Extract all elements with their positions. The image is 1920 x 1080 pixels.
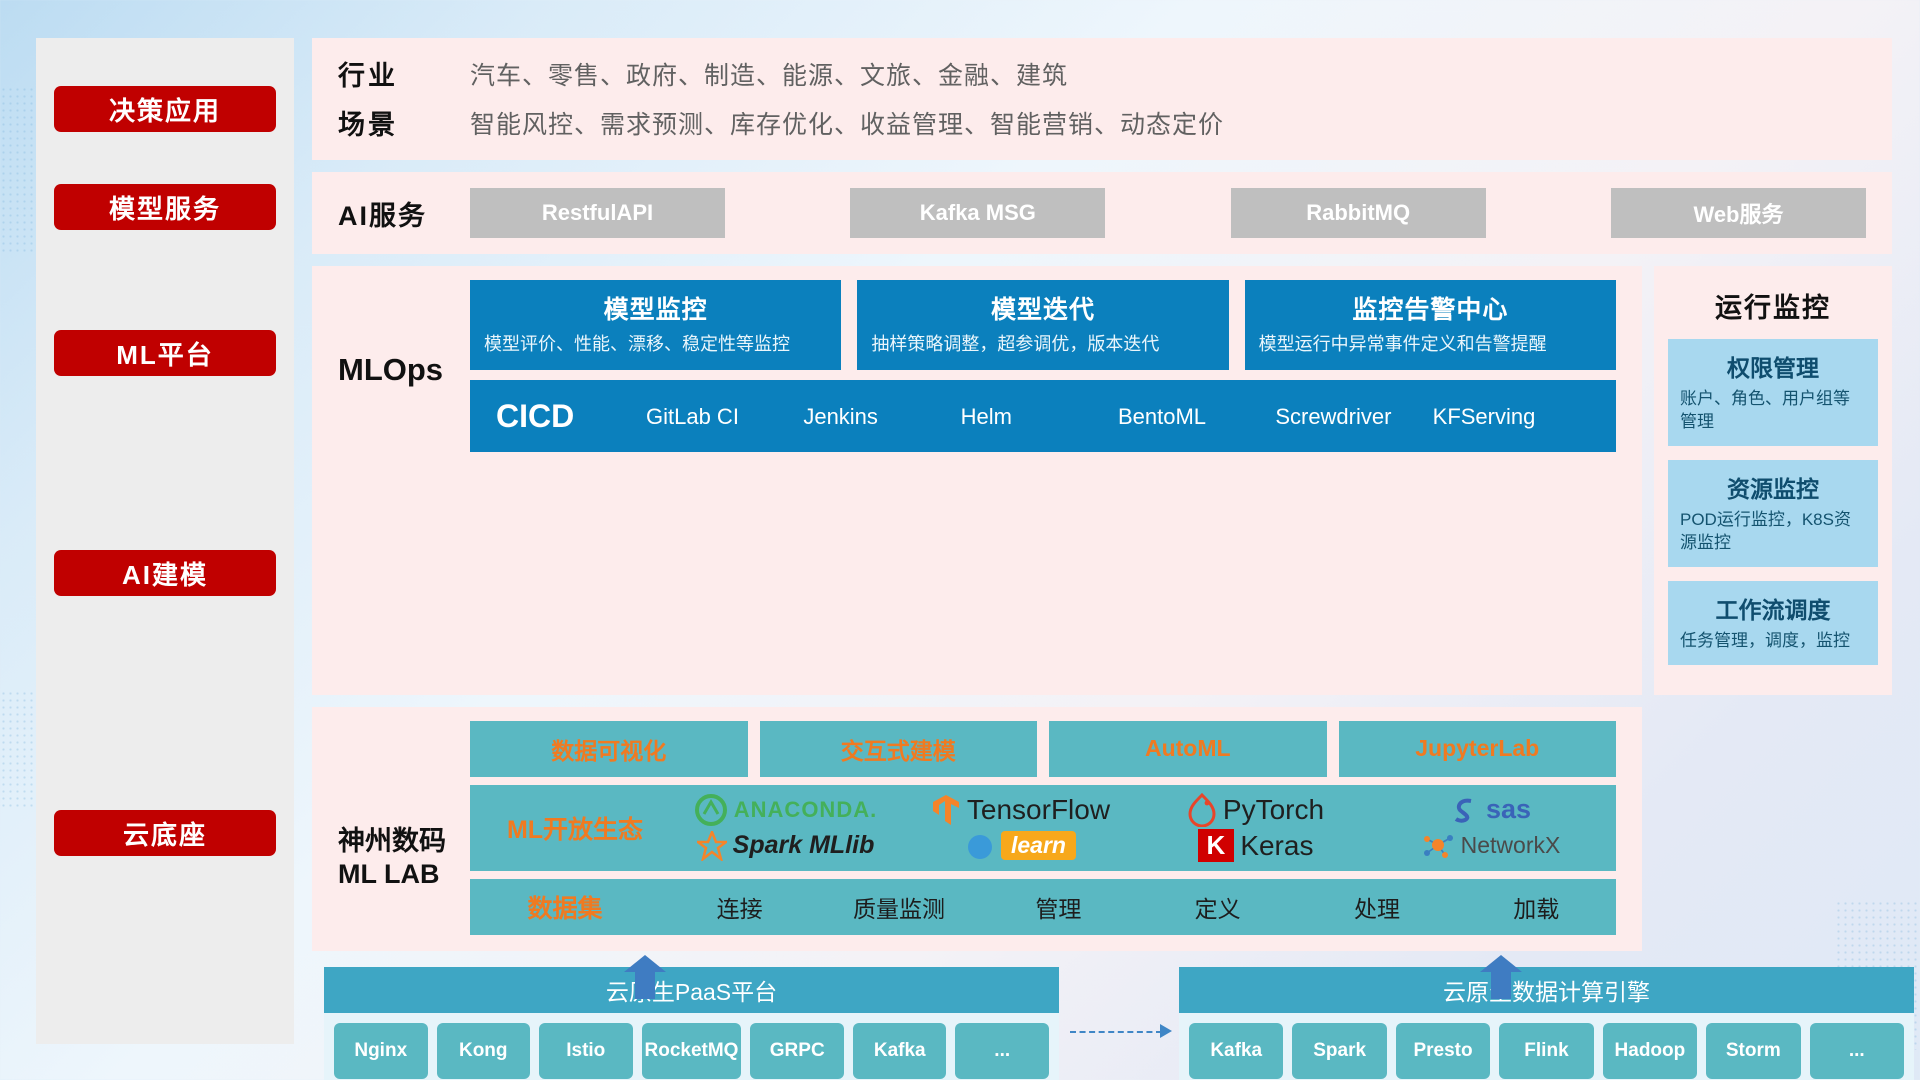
- scikit-learn-logo[interactable]: learn: [965, 831, 1076, 861]
- ml-lab-band: 神州数码 ML LAB 数据可视化 交互式建模 AutoML JupyterLa…: [312, 707, 1642, 951]
- card-desc: 模型评价、性能、漂移、稳定性等监控: [484, 332, 827, 356]
- card-desc: 抽样策略调整，超参调优，版本迭代: [871, 332, 1214, 356]
- ai-chip-web-service[interactable]: Web服务: [1611, 188, 1866, 238]
- arrow-line-right: [1070, 1031, 1162, 1033]
- anaconda-mark-icon: [694, 793, 728, 827]
- ml-lab-tool-list: 数据可视化 交互式建模 AutoML JupyterLab: [470, 721, 1616, 777]
- cloud-compute-column: 云原生数据计算引擎 Kafka Spark Presto Flink Hadoo…: [1179, 967, 1914, 1080]
- arrow-up-right: [1480, 955, 1522, 999]
- monitor-card-resource[interactable]: 资源监控 POD运行监控，K8S资源监控: [1668, 460, 1878, 567]
- sas-wordmark: sas: [1486, 794, 1531, 825]
- band-divider: [312, 160, 1892, 172]
- lab-tool-jupyterlab[interactable]: JupyterLab: [1339, 721, 1617, 777]
- dataset-item-list: 连接 质量监测 管理 定义 处理 加载: [660, 890, 1616, 924]
- paas-chip-rocketmq[interactable]: RocketMQ: [642, 1023, 742, 1079]
- cloud-compute-title: 云原生数据计算引擎: [1179, 967, 1914, 1013]
- networkx-graph-icon: [1421, 831, 1455, 861]
- dataset-item-definition[interactable]: 定义: [1138, 890, 1297, 924]
- ai-chip-restfulapi[interactable]: RestfulAPI: [470, 188, 725, 238]
- rail-item-cloud-base[interactable]: 云底座: [54, 810, 276, 856]
- keras-mark-icon: K: [1198, 829, 1235, 862]
- runtime-monitor-panel: 运行监控 权限管理 账户、角色、用户组等管理 资源监控 POD运行监控，K8S资…: [1654, 266, 1892, 695]
- spark-star-icon: [697, 831, 727, 861]
- sas-logo[interactable]: sas: [1450, 794, 1531, 825]
- keras-wordmark: Keras: [1240, 830, 1313, 862]
- networkx-wordmark: NetworkX: [1461, 832, 1561, 859]
- ml-open-ecosystem: ML开放生态 ANACONDA.: [470, 785, 1616, 871]
- ai-service-label: AI服务: [338, 194, 470, 233]
- mlops-card-model-iteration[interactable]: 模型迭代 抽样策略调整，超参调优，版本迭代: [857, 280, 1228, 370]
- anaconda-logo[interactable]: ANACONDA.: [694, 793, 877, 827]
- scikit-learn-wordmark: learn: [1001, 831, 1076, 860]
- card-title: 模型迭代: [871, 290, 1214, 326]
- compute-chip-more[interactable]: ...: [1810, 1023, 1904, 1079]
- compute-chip-presto[interactable]: Presto: [1396, 1023, 1490, 1079]
- industry-row: 行业 汽车、零售、政府、制造、能源、文旅、金融、建筑: [338, 54, 1866, 93]
- dataset-item-processing[interactable]: 处理: [1297, 890, 1456, 924]
- layer-rail: 决策应用 模型服务 ML平台 AI建模 云底座: [36, 38, 294, 1044]
- ml-lab-label-line2: ML LAB: [338, 858, 470, 892]
- architecture-diagram: 决策应用 模型服务 ML平台 AI建模 云底座 行业 汽车、零售、政府、制造、能…: [0, 0, 1920, 1080]
- cloud-paas-column: 云原生PaaS平台 Nginx Kong Istio RocketMQ GRPC…: [324, 967, 1059, 1080]
- runtime-monitor-title: 运行监控: [1668, 286, 1878, 325]
- rail-item-decision-apps[interactable]: 决策应用: [54, 86, 276, 132]
- cicd-tool-kfserving[interactable]: KFServing: [1433, 403, 1590, 431]
- compute-chip-kafka[interactable]: Kafka: [1189, 1023, 1283, 1079]
- mlops-card-model-monitoring[interactable]: 模型监控 模型评价、性能、漂移、稳定性等监控: [470, 280, 841, 370]
- dataset-row: 数据集 连接 质量监测 管理 定义 处理 加载: [470, 879, 1616, 935]
- compute-chip-flink[interactable]: Flink: [1499, 1023, 1593, 1079]
- card-desc: 模型运行中异常事件定义和告警提醒: [1259, 332, 1602, 356]
- compute-chip-spark[interactable]: Spark: [1292, 1023, 1386, 1079]
- lab-tool-data-visualization[interactable]: 数据可视化: [470, 721, 748, 777]
- cicd-bar: CICD GitLab CI Jenkins Helm BentoML Scre…: [470, 380, 1616, 452]
- rail-item-ml-platform[interactable]: ML平台: [54, 330, 276, 376]
- card-title: 资源监控: [1680, 470, 1866, 504]
- cloud-base-row: 云原生PaaS平台 Nginx Kong Istio RocketMQ GRPC…: [312, 967, 1892, 1080]
- mlops-content: 模型监控 模型评价、性能、漂移、稳定性等监控 模型迭代 抽样策略调整，超参调优，…: [470, 280, 1616, 452]
- decision-apps-band: 行业 汽车、零售、政府、制造、能源、文旅、金融、建筑 场景 智能风控、需求预测、…: [312, 38, 1892, 160]
- tensorflow-mark-icon: [931, 793, 961, 827]
- ml-lab-content: 数据可视化 交互式建模 AutoML JupyterLab ML开放生态: [470, 721, 1616, 935]
- arrow-head-right: [1160, 1024, 1172, 1038]
- cloud-paas-chip-list: Nginx Kong Istio RocketMQ GRPC Kafka ...: [324, 1013, 1059, 1080]
- paas-chip-more[interactable]: ...: [955, 1023, 1049, 1079]
- scenario-row: 场景 智能风控、需求预测、库存优化、收益管理、智能营销、动态定价: [338, 103, 1866, 142]
- rail-label: ML平台: [116, 335, 214, 372]
- monitor-card-permission[interactable]: 权限管理 账户、角色、用户组等管理: [1668, 339, 1878, 446]
- cicd-tool-list: GitLab CI Jenkins Helm BentoML Screwdriv…: [646, 403, 1590, 431]
- ai-chip-kafka-msg[interactable]: Kafka MSG: [850, 188, 1105, 238]
- mlops-card-alert-center[interactable]: 监控告警中心 模型运行中异常事件定义和告警提醒: [1245, 280, 1616, 370]
- lab-tool-interactive-modeling[interactable]: 交互式建模: [760, 721, 1038, 777]
- keras-logo[interactable]: K Keras: [1198, 829, 1314, 862]
- rail-label: 云底座: [123, 815, 207, 852]
- card-desc: POD运行监控，K8S资源监控: [1680, 509, 1866, 555]
- monitor-spacer: [1654, 707, 1892, 951]
- spark-wordmark: Spark MLlib: [733, 831, 875, 860]
- networkx-logo[interactable]: NetworkX: [1421, 831, 1561, 861]
- dataset-item-management[interactable]: 管理: [979, 890, 1138, 924]
- paas-chip-istio[interactable]: Istio: [539, 1023, 633, 1079]
- ml-lab-row: 神州数码 ML LAB 数据可视化 交互式建模 AutoML JupyterLa…: [312, 707, 1892, 951]
- ai-chip-rabbitmq[interactable]: RabbitMQ: [1231, 188, 1486, 238]
- band-divider: [312, 254, 1892, 266]
- cicd-tool-gitlab-ci[interactable]: GitLab CI: [646, 403, 803, 431]
- card-desc: 账户、角色、用户组等管理: [1680, 388, 1866, 434]
- tensorflow-logo[interactable]: TensorFlow: [931, 793, 1110, 827]
- cicd-tool-jenkins[interactable]: Jenkins: [803, 403, 960, 431]
- ecosystem-logo-grid: ANACONDA. TensorFlow: [670, 793, 1606, 863]
- dataset-item-quality-monitoring[interactable]: 质量监测: [819, 890, 978, 924]
- cicd-title: CICD: [496, 398, 646, 435]
- rail-label: AI建模: [122, 555, 208, 592]
- tensorflow-wordmark: TensorFlow: [967, 794, 1110, 826]
- ml-lab-label-line1: 神州数码: [338, 825, 470, 859]
- band-divider: [312, 695, 1892, 707]
- compute-chip-hadoop[interactable]: Hadoop: [1603, 1023, 1697, 1079]
- main-column: 行业 汽车、零售、政府、制造、能源、文旅、金融、建筑 场景 智能风控、需求预测、…: [312, 38, 1892, 1044]
- mlops-band: MLOps 模型监控 模型评价、性能、漂移、稳定性等监控 模型迭代 抽样策略调整…: [312, 266, 1642, 695]
- dataset-item-loading[interactable]: 加载: [1457, 890, 1616, 924]
- mlops-label: MLOps: [338, 280, 470, 388]
- scikit-circle-icon: [965, 831, 995, 861]
- cicd-tool-screwdriver[interactable]: Screwdriver: [1275, 403, 1432, 431]
- lab-tool-automl[interactable]: AutoML: [1049, 721, 1327, 777]
- rail-label: 模型服务: [109, 189, 221, 226]
- ai-service-band: AI服务 RestfulAPI Kafka MSG RabbitMQ Web服务: [312, 172, 1892, 254]
- ml-open-ecosystem-label: ML开放生态: [480, 810, 670, 846]
- paas-chip-kafka[interactable]: Kafka: [853, 1023, 947, 1079]
- rail-label: 决策应用: [109, 91, 221, 128]
- card-title: 权限管理: [1680, 349, 1866, 383]
- card-desc: 任务管理，调度，监控: [1680, 630, 1866, 653]
- rail-item-model-service[interactable]: 模型服务: [54, 184, 276, 230]
- pytorch-logo[interactable]: PyTorch: [1187, 793, 1324, 827]
- dataset-item-connect[interactable]: 连接: [660, 890, 819, 924]
- industry-label: 行业: [338, 54, 470, 93]
- cloud-paas-title: 云原生PaaS平台: [324, 967, 1059, 1013]
- card-title: 工作流调度: [1680, 591, 1866, 625]
- scenario-value: 智能风控、需求预测、库存优化、收益管理、智能营销、动态定价: [470, 105, 1224, 141]
- pytorch-wordmark: PyTorch: [1223, 794, 1324, 826]
- mlops-card-list: 模型监控 模型评价、性能、漂移、稳定性等监控 模型迭代 抽样策略调整，超参调优，…: [470, 280, 1616, 370]
- pytorch-flame-icon: [1187, 793, 1217, 827]
- dataset-label: 数据集: [470, 889, 660, 925]
- paas-chip-nginx[interactable]: Nginx: [334, 1023, 428, 1079]
- paas-chip-grpc[interactable]: GRPC: [750, 1023, 844, 1079]
- card-title: 监控告警中心: [1259, 290, 1602, 326]
- anaconda-wordmark: ANACONDA.: [734, 797, 877, 823]
- scenario-label: 场景: [338, 103, 470, 142]
- cicd-tool-bentoml[interactable]: BentoML: [1118, 403, 1275, 431]
- paas-chip-kong[interactable]: Kong: [437, 1023, 531, 1079]
- industry-value: 汽车、零售、政府、制造、能源、文旅、金融、建筑: [470, 56, 1068, 92]
- sas-mark-icon: [1450, 795, 1480, 825]
- cloud-compute-chip-list: Kafka Spark Presto Flink Hadoop Storm ..…: [1179, 1013, 1914, 1080]
- compute-chip-storm[interactable]: Storm: [1706, 1023, 1800, 1079]
- card-title: 模型监控: [484, 290, 827, 326]
- rail-item-ai-modeling[interactable]: AI建模: [54, 550, 276, 596]
- cicd-tool-helm[interactable]: Helm: [961, 403, 1118, 431]
- monitor-card-workflow[interactable]: 工作流调度 任务管理，调度，监控: [1668, 581, 1878, 665]
- spark-mllib-logo[interactable]: Spark MLlib: [697, 831, 875, 861]
- ml-lab-label: 神州数码 ML LAB: [338, 721, 470, 893]
- arrow-up-left: [624, 955, 666, 999]
- bidirectional-arrows: [1068, 1021, 1186, 1080]
- mlops-row: MLOps 模型监控 模型评价、性能、漂移、稳定性等监控 模型迭代 抽样策略调整…: [312, 266, 1892, 695]
- ai-service-chip-list: RestfulAPI Kafka MSG RabbitMQ Web服务: [470, 188, 1866, 238]
